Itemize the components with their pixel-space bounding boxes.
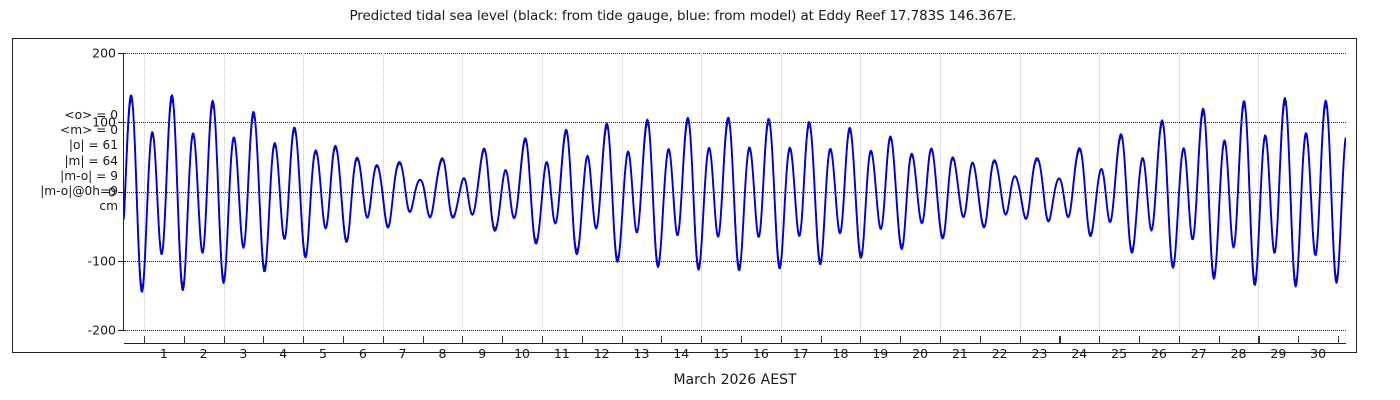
x-tick-mark	[1020, 336, 1021, 344]
x-tick-label: 11	[554, 346, 570, 361]
chart-root: Predicted tidal sea level (black: from t…	[0, 0, 1400, 400]
x-tick-label: 2	[200, 346, 208, 361]
stat-rms-model: |m| = 64	[6, 154, 118, 169]
x-tick-label: 28	[1231, 346, 1247, 361]
y-tick-label: -200	[88, 323, 116, 338]
x-tick-mark	[622, 336, 623, 344]
x-tick-label: 19	[872, 346, 888, 361]
y-tick-mark	[118, 330, 124, 331]
y-tick-mark	[118, 192, 124, 193]
x-tick-mark	[821, 336, 822, 344]
x-tick-label: 8	[438, 346, 446, 361]
x-tick-mark	[1219, 336, 1220, 344]
x-tick-label: 29	[1270, 346, 1286, 361]
x-tick-mark	[1059, 336, 1060, 344]
x-tick-mark	[383, 336, 384, 344]
x-tick-mark	[1139, 336, 1140, 344]
x-tick-mark	[343, 336, 344, 344]
x-tick-mark	[980, 336, 981, 344]
stat-rms-observed: |o| = 61	[6, 138, 118, 153]
x-tick-label: 17	[793, 346, 809, 361]
y-tick-mark	[118, 261, 124, 262]
x-tick-label: 21	[952, 346, 968, 361]
x-tick-label: 9	[478, 346, 486, 361]
stat-difference-at-0h: |m-o|@0h=9	[6, 184, 118, 199]
x-tick-label: 24	[1071, 346, 1087, 361]
x-tick-label: 6	[359, 346, 367, 361]
stat-mean-observed: <o> = 0	[6, 108, 118, 123]
x-tick-mark	[1179, 336, 1180, 344]
x-tick-mark	[781, 336, 782, 344]
x-tick-mark	[303, 336, 304, 344]
tidal-series-plot	[124, 53, 1346, 330]
chart-title: Predicted tidal sea level (black: from t…	[0, 8, 1366, 24]
x-tick-mark	[1258, 336, 1259, 344]
x-tick-mark	[1099, 336, 1100, 344]
x-axis-title: March 2026 AEST	[124, 372, 1346, 388]
x-tick-mark	[860, 336, 861, 344]
x-tick-mark	[542, 336, 543, 344]
x-tick-label: 23	[1032, 346, 1048, 361]
x-tick-mark	[900, 336, 901, 344]
x-tick-label: 30	[1310, 346, 1326, 361]
x-tick-mark	[184, 336, 185, 344]
x-tick-label: 16	[753, 346, 769, 361]
x-tick-mark	[1338, 336, 1339, 344]
x-tick-label: 4	[279, 346, 287, 361]
y-tick-label: 200	[92, 46, 116, 61]
x-tick-label: 14	[673, 346, 689, 361]
x-tick-label: 20	[912, 346, 928, 361]
stat-rms-difference: |m-o| = 9	[6, 169, 118, 184]
y-tick-label: -100	[88, 253, 116, 268]
statistics-block: <o> = 0 <m> = 0 |o| = 61 |m| = 64 |m-o| …	[6, 108, 118, 214]
x-tick-mark	[582, 336, 583, 344]
y-tick-mark	[118, 122, 124, 123]
x-tick-mark	[940, 336, 941, 344]
x-tick-label: 12	[594, 346, 610, 361]
x-tick-mark	[224, 336, 225, 344]
x-tick-mark	[263, 336, 264, 344]
x-tick-mark	[741, 336, 742, 344]
x-tick-mark	[462, 336, 463, 344]
x-tick-mark	[502, 336, 503, 344]
plot-area: 2001000-100-200	[124, 53, 1346, 330]
gridline-horizontal	[124, 330, 1346, 331]
stat-mean-model: <m> = 0	[6, 123, 118, 138]
x-tick-label: 13	[634, 346, 650, 361]
x-tick-label: 26	[1151, 346, 1167, 361]
y-tick-mark	[118, 53, 124, 54]
x-tick-label: 25	[1111, 346, 1127, 361]
x-tick-mark	[423, 336, 424, 344]
x-tick-label: 22	[992, 346, 1008, 361]
x-tick-label: 3	[239, 346, 247, 361]
x-axis-line	[124, 343, 1346, 344]
x-tick-label: 18	[833, 346, 849, 361]
x-tick-mark	[1298, 336, 1299, 344]
x-tick-label: 10	[514, 346, 530, 361]
x-tick-mark	[701, 336, 702, 344]
x-tick-mark	[661, 336, 662, 344]
stat-units: cm	[6, 199, 118, 214]
x-tick-mark	[144, 336, 145, 344]
x-tick-label: 27	[1191, 346, 1207, 361]
x-tick-label: 1	[160, 346, 168, 361]
x-tick-label: 7	[399, 346, 407, 361]
x-tick-label: 15	[713, 346, 729, 361]
x-tick-label: 5	[319, 346, 327, 361]
